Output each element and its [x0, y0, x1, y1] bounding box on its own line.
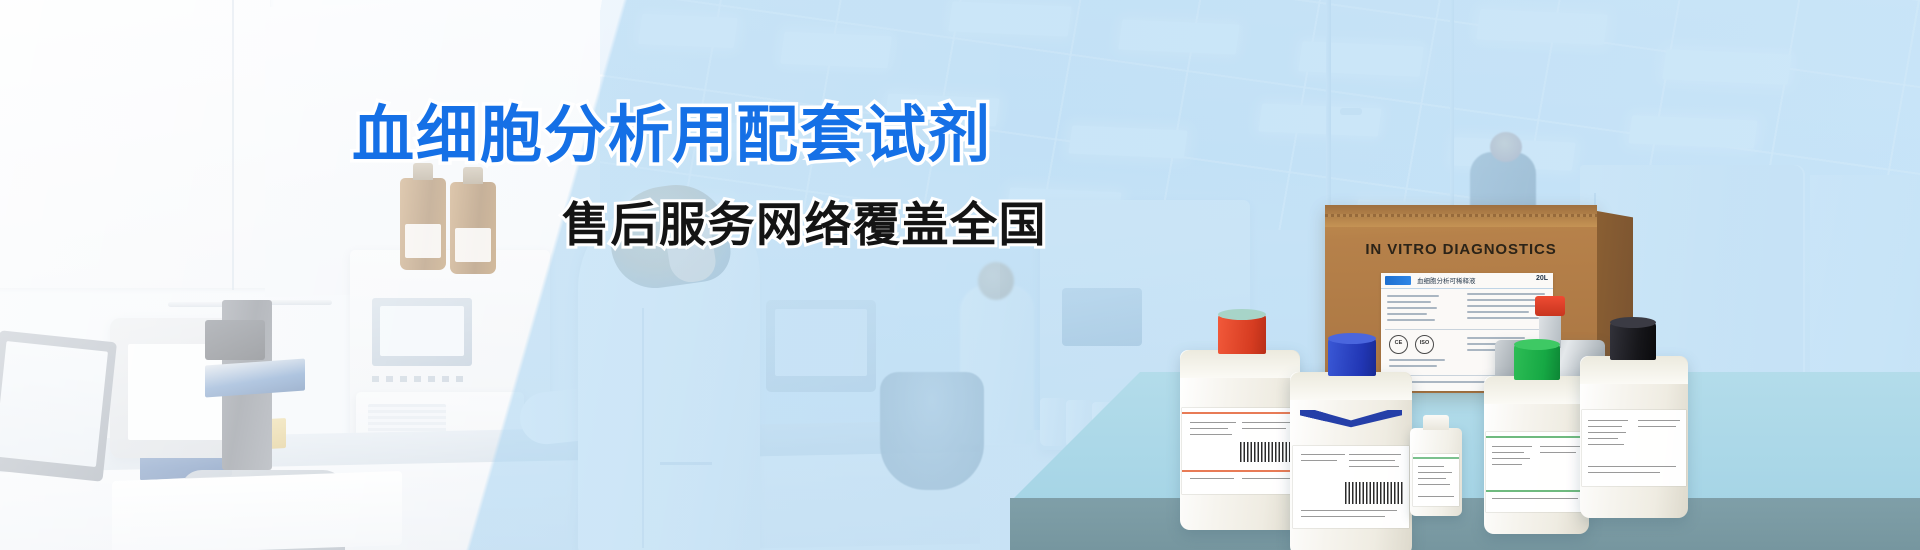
lab-device-box: [205, 320, 265, 360]
label-line: [1349, 466, 1399, 467]
label-line: [1190, 434, 1232, 435]
ceiling-light-panel: [1258, 103, 1381, 136]
label-line: [1588, 420, 1628, 421]
label-line: [1242, 428, 1286, 429]
ceiling-pole: [1340, 108, 1362, 115]
label-line: [1492, 464, 1522, 465]
background-lab-worker-head: [978, 262, 1014, 300]
bottle-label: [455, 228, 491, 262]
ceiling-pole: [1450, 0, 1454, 215]
banner-subheadline: 售后服务网络覆盖全国: [562, 202, 1047, 249]
lab-cabinet-top-left: [0, 0, 270, 288]
barcode: [1240, 442, 1294, 462]
bottle-shoulder: [1180, 350, 1300, 378]
ceiling-pole: [1326, 0, 1331, 240]
label-line: [1301, 460, 1337, 461]
label-text-line: [1387, 295, 1439, 297]
lab-chair-center: [880, 372, 984, 490]
paper-stack: [112, 471, 402, 550]
label-line: [1492, 446, 1532, 447]
label-line: [1242, 422, 1292, 423]
brand-logo: [1385, 276, 1411, 285]
ceiling-light-panel: [1118, 19, 1239, 54]
label-line: [1301, 516, 1385, 517]
cap-top: [1610, 317, 1656, 328]
coat-pocket: [660, 462, 712, 465]
label-text-line: [1389, 359, 1445, 361]
bottle-label: [1486, 432, 1587, 512]
label-text-line: [1387, 307, 1437, 309]
cap-top: [1328, 333, 1376, 344]
label-stripe: [1182, 470, 1298, 472]
label-line: [1190, 422, 1236, 423]
label-line: [1418, 466, 1444, 467]
bottle-body: [1290, 372, 1412, 550]
small-jar-label: [1413, 454, 1459, 506]
label-divider: [1385, 329, 1549, 330]
lab-monitor-center: [766, 300, 876, 392]
ceiling-light-panel: [780, 32, 892, 69]
ceiling-light-panel: [638, 14, 738, 48]
label-line: [1242, 478, 1290, 479]
label-stripe: [1182, 412, 1298, 414]
bottle-body: [1580, 356, 1688, 518]
label-line: [1349, 460, 1395, 461]
cabinet-seam: [232, 0, 234, 290]
label-text-line: [1389, 365, 1437, 367]
analyser-screen-center: [1062, 288, 1142, 346]
small-jar-body: [1410, 428, 1462, 516]
label-stripe: [1486, 490, 1587, 492]
label-text-line: [1387, 301, 1431, 303]
label-volume: 20L: [1536, 275, 1548, 282]
product-table-edge: [1010, 498, 1920, 550]
label-line: [1638, 420, 1680, 421]
bottle-shoulder: [1290, 372, 1412, 400]
label-line: [1492, 458, 1530, 459]
label-text-line: [1467, 337, 1525, 339]
cap-top: [1218, 309, 1266, 320]
label-line: [1540, 452, 1576, 453]
ceiling-light-panel: [1068, 125, 1187, 158]
ce-mark-icon: CE: [1389, 335, 1408, 354]
label-line: [1588, 426, 1622, 427]
ceiling-light-panel: [1628, 115, 1757, 149]
ceiling-light-panel: [1298, 41, 1423, 76]
label-text-line: [1387, 313, 1427, 315]
bottle-label: [1293, 446, 1409, 528]
bottle-cap-blue: [1328, 338, 1376, 376]
label-header-row: 血细胞分析可稀释液 20L: [1381, 273, 1553, 289]
reagent-jug: [1040, 398, 1066, 446]
label-line: [1588, 444, 1624, 445]
ceiling-light-panel: [1662, 49, 1791, 85]
bottle-shoulder: [1484, 376, 1589, 404]
box-printed-text: IN VITRO DIAGNOSTICS: [1325, 241, 1597, 258]
bottle-shoulder: [1580, 356, 1688, 384]
bottle-cap-green: [1514, 344, 1560, 380]
bottle-label: [1182, 408, 1298, 494]
label-line: [1301, 510, 1397, 511]
label-line: [1418, 484, 1450, 485]
label-line: [1588, 432, 1626, 433]
label-title: 血细胞分析可稀释液: [1417, 275, 1476, 285]
label-text-line: [1467, 311, 1529, 313]
iso-mark-icon: ISO: [1415, 335, 1434, 354]
label-stripe: [1413, 457, 1459, 459]
analyser-buttons: [372, 376, 468, 382]
bottle-body: [1484, 376, 1589, 534]
label-line: [1418, 472, 1452, 473]
bottle-cap-red: [1218, 314, 1266, 354]
label-line: [1638, 426, 1676, 427]
bottle-body: [1180, 350, 1300, 530]
reagent-glass-bottle: [450, 182, 496, 274]
label-text-line: [1467, 299, 1537, 301]
label-line: [1492, 452, 1524, 453]
ceiling-light-panel: [948, 1, 1071, 36]
reagent-glass-bottle: [400, 178, 446, 270]
cap-top: [1514, 339, 1560, 350]
bottle-blue-chevron: [1300, 410, 1402, 430]
small-jar-cap: [1423, 415, 1449, 430]
label-line: [1588, 438, 1618, 439]
box-top-flap: [1325, 205, 1597, 227]
analyser-panel: [380, 306, 464, 356]
label-line: [1418, 496, 1454, 497]
lcd-monitor: [0, 330, 117, 482]
background-person-head: [1490, 132, 1522, 162]
banner-headline: 血细胞分析用配套试剂: [352, 104, 992, 166]
label-text-line: [1467, 305, 1543, 307]
ceiling-light-panel: [1476, 9, 1607, 45]
label-line: [1588, 466, 1676, 467]
label-text-line: [1467, 293, 1545, 295]
label-text-line: [1387, 319, 1435, 321]
hero-banner: IN VITRO DIAGNOSTICS 血细胞分析可稀释液 20L CE IS…: [0, 0, 1920, 550]
label-line: [1540, 446, 1582, 447]
label-line: [1492, 498, 1578, 499]
label-line: [1418, 478, 1446, 479]
bottle-label: [405, 224, 441, 258]
pouch-cap-red: [1535, 296, 1565, 316]
label-stripe: [1486, 436, 1587, 438]
label-line: [1349, 454, 1401, 455]
bottle-label: [1582, 410, 1686, 486]
bottle-cap-black: [1610, 322, 1656, 360]
label-line: [1190, 478, 1234, 479]
barcode: [1345, 482, 1403, 504]
label-line: [1588, 472, 1660, 473]
label-line: [1301, 454, 1345, 455]
label-text-line: [1467, 317, 1539, 319]
label-line: [1190, 428, 1228, 429]
